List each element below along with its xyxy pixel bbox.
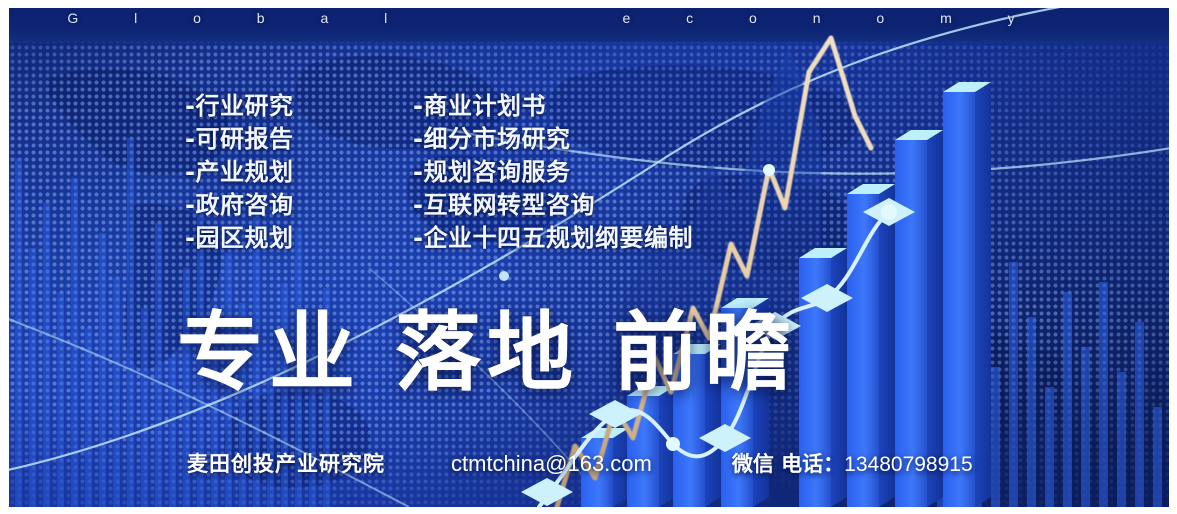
headline-slogan: 专业落地前瞻	[177, 305, 797, 401]
footer-contact-row: 麦田创投产业研究院 ctmtchina@163.com 微信 电话： 13480…	[187, 448, 973, 478]
arc-node-dot	[499, 271, 509, 281]
service-item: -互联网转型咨询	[413, 189, 693, 222]
service-item: -园区规划	[185, 222, 293, 255]
growth-chart-graphic	[9, 8, 1169, 507]
kicker-global-economy: G l o b a l e c o n o m y	[9, 10, 1099, 26]
service-item: -可研报告	[185, 123, 293, 156]
service-item: -商业计划书	[413, 90, 693, 123]
screenshot-root: G l o b a l e c o n o m y -行业研究 -可研报告 -产…	[0, 0, 1177, 514]
service-item: -规划咨询服务	[413, 156, 693, 189]
service-item: -细分市场研究	[413, 123, 693, 156]
organization-name: 麦田创投产业研究院	[187, 448, 385, 478]
service-item: -产业规划	[185, 156, 293, 189]
service-list-right: -商业计划书 -细分市场研究 -规划咨询服务 -互联网转型咨询 -企业十四五规划…	[413, 90, 693, 255]
service-item: -行业研究	[185, 90, 293, 123]
promo-banner: G l o b a l e c o n o m y -行业研究 -可研报告 -产…	[9, 8, 1169, 507]
contact-label: 微信 电话：	[732, 448, 844, 478]
email-address[interactable]: ctmtchina@163.com	[451, 451, 652, 477]
phone-number[interactable]: 13480798915	[844, 453, 972, 477]
headline-word-1: 专业	[177, 303, 361, 403]
service-item: -企业十四五规划纲要编制	[413, 222, 693, 255]
headline-word-3: 前瞻	[613, 303, 797, 403]
service-item: -政府咨询	[185, 189, 293, 222]
service-list-left: -行业研究 -可研报告 -产业规划 -政府咨询 -园区规划	[185, 90, 293, 255]
headline-word-2: 落地	[395, 303, 579, 403]
